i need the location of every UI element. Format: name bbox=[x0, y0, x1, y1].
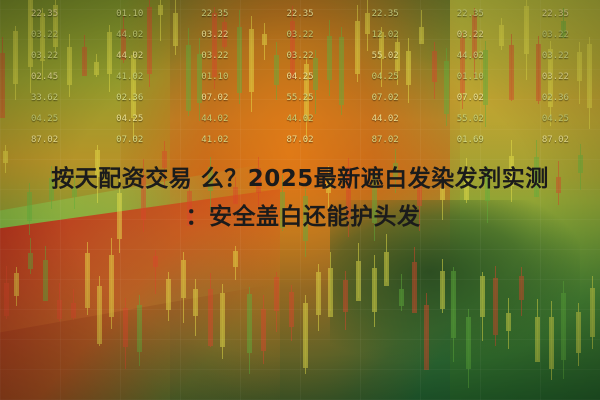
candlestick bbox=[208, 273, 213, 347]
headline-line-2: ：安全盖白还能护头发 bbox=[0, 198, 600, 236]
candlestick bbox=[412, 247, 417, 311]
ticker-value: 87.02 bbox=[513, 130, 598, 151]
candlestick bbox=[493, 266, 498, 346]
candlestick bbox=[424, 293, 429, 368]
candlestick bbox=[303, 295, 308, 374]
ticker-value: 44.02 bbox=[87, 25, 172, 46]
candlestick bbox=[549, 301, 554, 380]
ticker-value: 03.22 bbox=[172, 46, 257, 67]
candlestick bbox=[220, 284, 225, 359]
ticker-value: 03.22 bbox=[513, 46, 598, 67]
ticker-value: 02.36 bbox=[87, 88, 172, 109]
ticker-value: 07.02 bbox=[428, 88, 513, 109]
ticker-value: 03.22 bbox=[172, 25, 257, 46]
candlestick bbox=[372, 255, 377, 327]
candlestick bbox=[137, 295, 142, 366]
candlestick bbox=[561, 281, 566, 378]
ticker-value: 07.02 bbox=[172, 88, 257, 109]
candlestick bbox=[356, 243, 361, 298]
candlestick bbox=[193, 279, 198, 337]
ticker-value: 87.02 bbox=[2, 130, 87, 151]
ticker-value: 22.35 bbox=[172, 4, 257, 25]
candlestick bbox=[14, 267, 19, 305]
ticker-value: 44.02 bbox=[172, 109, 257, 130]
candlestick bbox=[181, 252, 186, 324]
candlestick bbox=[384, 234, 389, 282]
ticker-value: 87.02 bbox=[343, 130, 428, 151]
ticker-value: 03.22 bbox=[513, 67, 598, 88]
headline: 按天配资交易 么？2025最新遮白发染发剂实测 ：安全盖白还能护头发 bbox=[0, 160, 600, 236]
ticker-value: 41.02 bbox=[87, 67, 172, 88]
ticker-value: 02.45 bbox=[2, 67, 87, 88]
candlestick bbox=[28, 238, 33, 274]
ticker-value: 01.69 bbox=[428, 130, 513, 151]
ticker-value: 03.22 bbox=[257, 25, 342, 46]
candlestick bbox=[233, 246, 238, 281]
ticker-value: 44.02 bbox=[257, 109, 342, 130]
candlestick bbox=[316, 264, 321, 331]
candlestick bbox=[166, 272, 171, 321]
ticker-value: 41.02 bbox=[172, 130, 257, 151]
candlestick bbox=[535, 299, 540, 360]
candlestick bbox=[123, 298, 128, 370]
candlestick bbox=[451, 267, 456, 362]
candlestick bbox=[506, 298, 511, 349]
candlestick bbox=[274, 272, 279, 332]
ticker-value: 04.25 bbox=[257, 67, 342, 88]
candlestick bbox=[289, 285, 294, 341]
candlestick bbox=[85, 242, 90, 315]
candlestick bbox=[43, 246, 48, 301]
candlestick bbox=[261, 295, 266, 365]
ticker-value: 44.02 bbox=[87, 46, 172, 67]
ticker-value: 44.02 bbox=[343, 109, 428, 130]
ticker-value: 12.02 bbox=[343, 25, 428, 46]
ticker-value: 03.22 bbox=[2, 46, 87, 67]
ticker-value: 03.22 bbox=[513, 25, 598, 46]
ticker-value: 87.02 bbox=[257, 130, 342, 151]
ticker-value: 03.22 bbox=[428, 25, 513, 46]
ticker-value: 22.35 bbox=[428, 4, 513, 25]
ticker-value: 04.25 bbox=[2, 109, 87, 130]
candlestick bbox=[343, 271, 348, 331]
price-ticker-grid: 22.3501.1022.3522.3522.3522.3522.3503.22… bbox=[0, 0, 600, 150]
candlestick bbox=[57, 283, 62, 321]
ticker-value: 04.25 bbox=[87, 109, 172, 130]
candlestick bbox=[328, 252, 333, 311]
candlestick bbox=[97, 276, 102, 346]
ticker-value: 03.22 bbox=[257, 46, 342, 67]
banner-image: 22.3501.1022.3522.3522.3522.3522.3503.22… bbox=[0, 0, 600, 400]
ticker-value: 07.02 bbox=[87, 130, 172, 151]
candlestick bbox=[576, 303, 581, 366]
candlestick bbox=[153, 250, 158, 294]
candlestick bbox=[4, 266, 9, 319]
ticker-value: 01.10 bbox=[87, 4, 172, 25]
candlestick bbox=[71, 289, 76, 319]
ticker-value: 44.02 bbox=[428, 46, 513, 67]
candlestick bbox=[480, 272, 485, 341]
ticker-value: 33.62 bbox=[2, 88, 87, 109]
ticker-value: 22.35 bbox=[257, 4, 342, 25]
candlestick bbox=[247, 287, 252, 374]
ticker-value: 04.25 bbox=[513, 109, 598, 130]
ticker-value: 03.22 bbox=[2, 25, 87, 46]
ticker-value: 22.35 bbox=[343, 4, 428, 25]
candlestick bbox=[440, 259, 445, 312]
ticker-value: 55.02 bbox=[343, 46, 428, 67]
ticker-value: 01.10 bbox=[172, 67, 257, 88]
ticker-value: 55.25 bbox=[257, 88, 342, 109]
ticker-value: 02.36 bbox=[513, 88, 598, 109]
ticker-value: 07.02 bbox=[343, 88, 428, 109]
ticker-value: 55.02 bbox=[428, 109, 513, 130]
candlestick bbox=[466, 309, 471, 388]
candlestick bbox=[590, 276, 595, 349]
candlestick bbox=[519, 267, 524, 317]
ticker-value: 22.35 bbox=[2, 4, 87, 25]
ticker-value: 22.35 bbox=[513, 4, 598, 25]
candlestick bbox=[109, 238, 114, 329]
ticker-value: 04.25 bbox=[343, 67, 428, 88]
headline-line-1: 按天配资交易 么？2025最新遮白发染发剂实测 bbox=[0, 160, 600, 198]
ticker-value: 01.10 bbox=[428, 67, 513, 88]
candlestick bbox=[399, 274, 404, 311]
